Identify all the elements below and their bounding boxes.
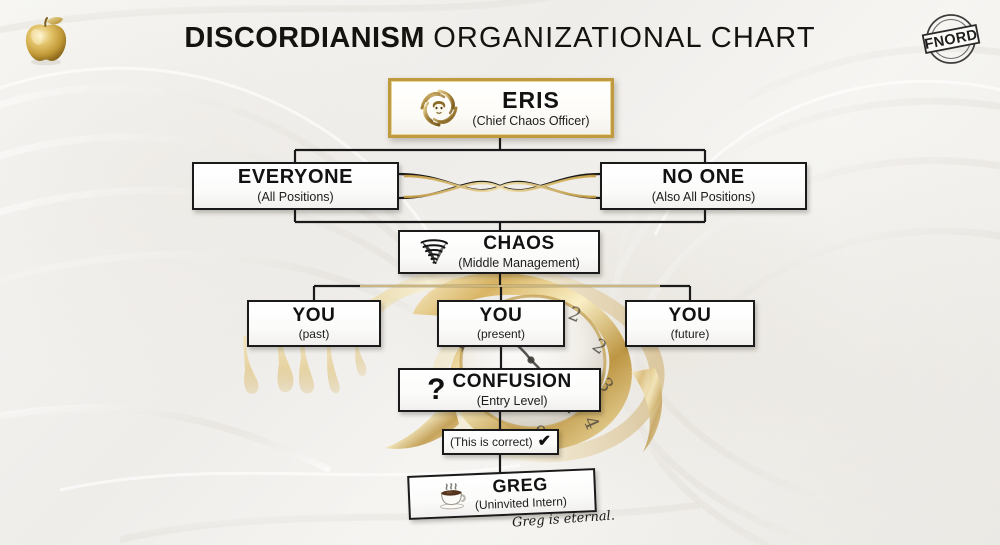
node-you-future-title: YOU <box>669 306 712 327</box>
node-chaos[interactable]: CHAOS (Middle Management) <box>398 230 600 274</box>
page-title-light: ORGANIZATIONAL CHART <box>433 22 815 54</box>
node-you-present-subtitle: (present) <box>477 328 525 341</box>
page-title-bold: DISCORDIANISM <box>184 22 424 54</box>
node-you-present-title: YOU <box>480 306 523 327</box>
checkmark-icon: ✔ <box>538 434 551 450</box>
node-you-present-labels: YOU (present) <box>477 306 525 341</box>
eris-swirl-face-icon <box>418 87 460 129</box>
node-chaos-subtitle: (Middle Management) <box>458 257 580 271</box>
node-you-past[interactable]: YOU (past) <box>247 300 381 347</box>
coffee-cup-icon <box>437 481 468 510</box>
page-title: DISCORDIANISM ORGANIZATIONAL CHART <box>0 22 1000 55</box>
node-no-one-labels: NO ONE (Also All Positions) <box>652 167 756 204</box>
svg-text:2: 2 <box>565 302 584 327</box>
node-you-future-subtitle: (future) <box>671 328 710 341</box>
svg-text:2: 2 <box>588 334 611 359</box>
node-this-is-correct-label: (This is correct) <box>450 435 533 449</box>
node-you-future-labels: YOU (future) <box>669 306 712 341</box>
fnord-stamp-text: FNORD <box>923 27 979 53</box>
node-this-is-correct[interactable]: (This is correct) ✔ <box>442 429 559 455</box>
svg-text:4: 4 <box>578 413 603 433</box>
tornado-icon <box>418 237 450 267</box>
node-everyone-title: EVERYONE <box>238 167 353 189</box>
node-you-past-subtitle: (past) <box>299 328 330 341</box>
node-confusion-title: CONFUSION <box>452 372 571 393</box>
node-everyone-subtitle: (All Positions) <box>257 191 333 205</box>
node-you-past-title: YOU <box>293 306 336 327</box>
org-chart-canvas: 1 1 2 2 3 4 0 <box>0 0 1000 545</box>
node-chaos-labels: CHAOS (Middle Management) <box>458 234 580 270</box>
node-no-one-subtitle: (Also All Positions) <box>652 191 756 205</box>
node-greg-labels: GREG (Uninvited Intern) <box>474 474 567 512</box>
node-eris-labels: ERIS (Chief Chaos Officer) <box>472 88 589 128</box>
node-eris[interactable]: ERIS (Chief Chaos Officer) <box>388 78 614 138</box>
node-everyone[interactable]: EVERYONE (All Positions) <box>192 162 399 210</box>
question-mark-icon: ? <box>427 375 445 405</box>
node-confusion-labels: CONFUSION (Entry Level) <box>452 372 571 408</box>
node-eris-subtitle: (Chief Chaos Officer) <box>472 115 589 129</box>
node-you-present[interactable]: YOU (present) <box>437 300 565 347</box>
node-everyone-labels: EVERYONE (All Positions) <box>238 167 353 204</box>
node-greg-title: GREG <box>492 475 548 497</box>
node-no-one-title: NO ONE <box>662 167 745 189</box>
node-confusion-subtitle: (Entry Level) <box>477 395 548 409</box>
node-chaos-title: CHAOS <box>483 234 555 255</box>
node-greg-subtitle: (Uninvited Intern) <box>475 496 568 513</box>
node-confusion[interactable]: ? CONFUSION (Entry Level) <box>398 368 601 412</box>
fnord-stamp-icon: FNORD <box>912 8 990 70</box>
node-you-future[interactable]: YOU (future) <box>625 300 755 347</box>
node-no-one[interactable]: NO ONE (Also All Positions) <box>600 162 807 210</box>
node-you-past-labels: YOU (past) <box>293 306 336 341</box>
node-eris-title: ERIS <box>502 88 560 113</box>
